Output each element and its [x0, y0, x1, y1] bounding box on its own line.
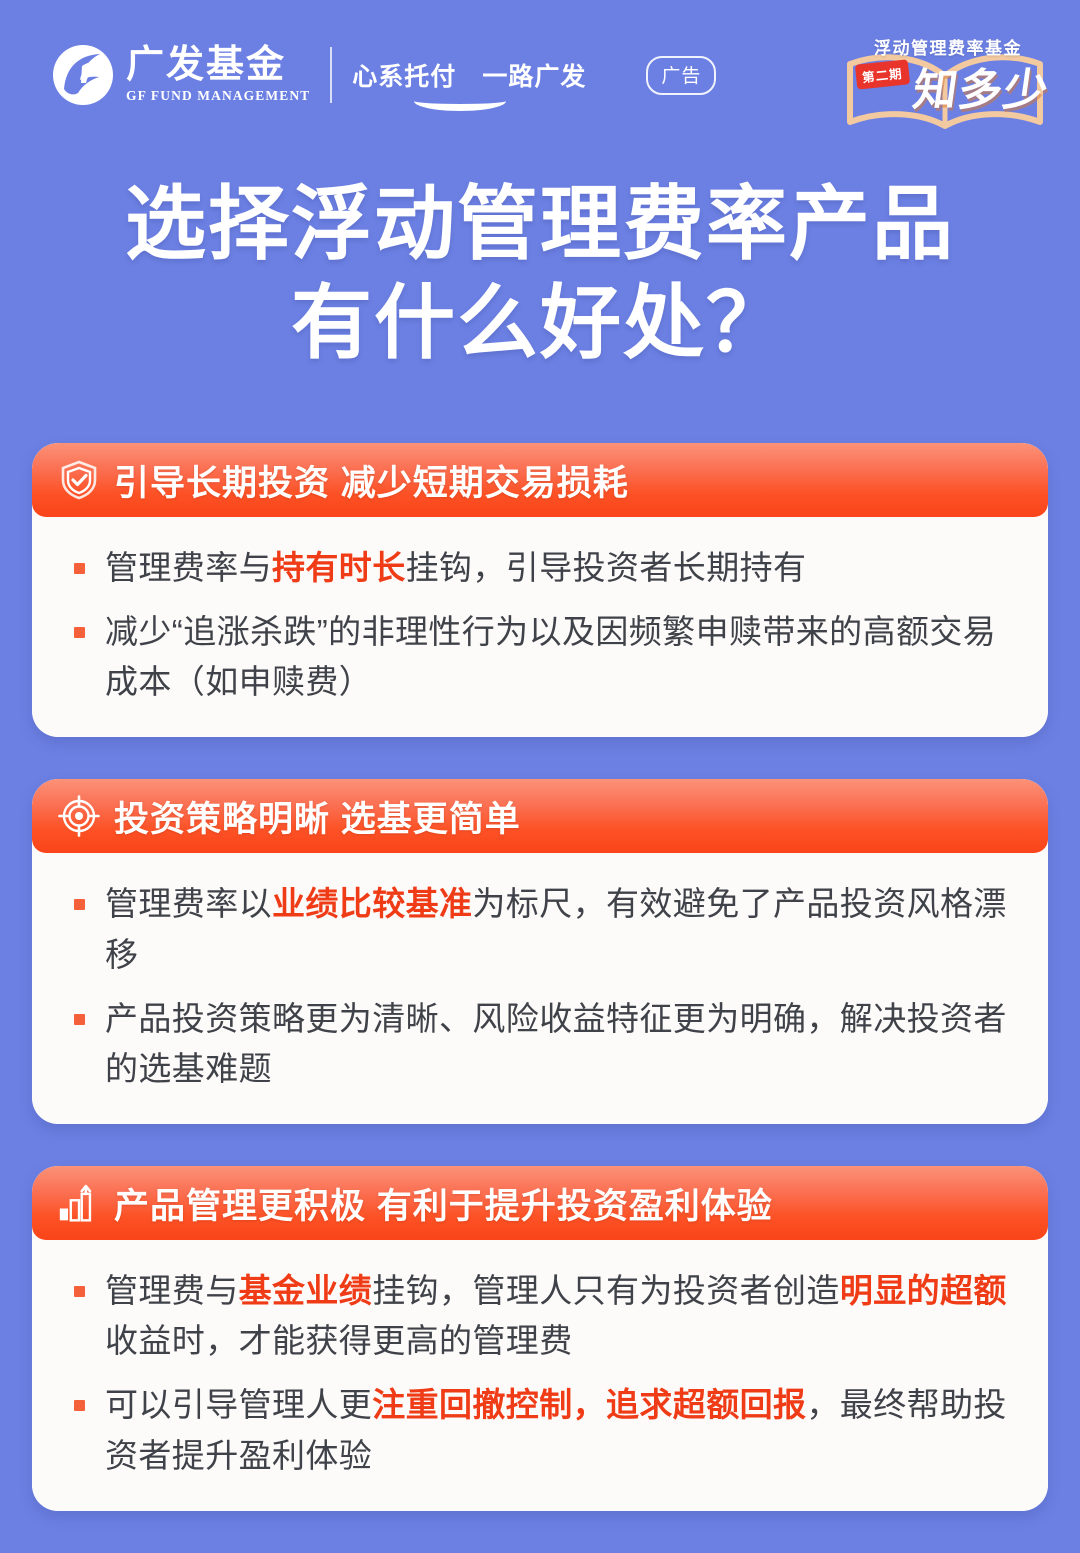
brand-name-en: GF FUND MANAGEMENT	[126, 88, 310, 104]
bullet-text-plain: 收益时，才能获得更高的管理费	[105, 1322, 573, 1359]
benefit-card-list: 引导长期投资 减少短期交易损耗管理费率与持有时长挂钩，引导投资者长期持有减少“追…	[32, 443, 1048, 1553]
bullet-text-highlight: 注重回撤控制，追求超额回报	[372, 1386, 806, 1423]
header-divider	[330, 47, 332, 103]
bullet-text-plain: 减少“追涨杀跌”的非理性行为以及因频繁申赎带来的高额交易成本（如申赎费）	[105, 613, 996, 700]
benefit-card-title: 引导长期投资 减少短期交易损耗	[114, 455, 629, 506]
bullet-text-plain: 管理费与	[105, 1272, 239, 1309]
bullet-text: 管理费与基金业绩挂钩，管理人只有为投资者创造明显的超额收益时，才能获得更高的管理…	[105, 1266, 1012, 1366]
benefit-card: 产品管理更积极 有利于提升投资盈利体验管理费与基金业绩挂钩，管理人只有为投资者创…	[32, 1166, 1048, 1511]
benefit-card-header: 引导长期投资 减少短期交易损耗	[32, 443, 1048, 517]
benefit-card-body: 管理费率与持有时长挂钩，引导投资者长期持有减少“追涨杀跌”的非理性行为以及因频繁…	[32, 517, 1048, 737]
page-title-line-2: 有什么好处？	[0, 275, 1080, 374]
slogan-part-2: 一路广发	[482, 57, 586, 93]
bullet-text-plain: 挂钩，管理人只有为投资者创造	[372, 1272, 840, 1309]
bullet-item: 可以引导管理人更注重回撤控制，追求超额回报，最终帮助投资者提升盈利体验	[62, 1380, 1012, 1480]
brand-slogan: 心系托付 一路广发	[352, 57, 586, 93]
bullet-square-icon	[74, 899, 85, 910]
benefit-card-title: 产品管理更积极 有利于提升投资盈利体验	[114, 1178, 773, 1229]
brand-names: 广发基金 GF FUND MANAGEMENT	[126, 46, 310, 104]
bullet-text-highlight: 明显的超额	[840, 1272, 1007, 1309]
bullet-item: 产品投资策略更为清晰、风险收益特征更为明确，解决投资者的选基难题	[62, 994, 1012, 1094]
target-crosshair-icon	[58, 795, 100, 837]
benefit-card-title: 投资策略明晰 选基更简单	[114, 791, 521, 842]
page-title-line-1: 选择浮动管理费率产品	[0, 176, 1080, 275]
badge-main-text: 知多少	[910, 54, 1054, 118]
bullet-text: 减少“追涨杀跌”的非理性行为以及因频繁申赎带来的高额交易成本（如申赎费）	[105, 607, 1012, 707]
brand-name-cn: 广发基金	[126, 46, 310, 85]
benefit-card-body: 管理费与基金业绩挂钩，管理人只有为投资者创造明显的超额收益时，才能获得更高的管理…	[32, 1240, 1048, 1511]
bullet-text-plain: 管理费率与	[105, 549, 272, 586]
bullet-text: 可以引导管理人更注重回撤控制，追求超额回报，最终帮助投资者提升盈利体验	[105, 1380, 1012, 1480]
bullet-text-plain: 可以引导管理人更	[105, 1386, 372, 1423]
bar-chart-growth-icon	[58, 1182, 100, 1224]
bullet-text: 管理费率以业绩比较基准为标尺，有效避免了产品投资风格漂移	[105, 879, 1012, 979]
brand-logo: 广发基金 GF FUND MANAGEMENT	[52, 44, 310, 106]
bullet-text-highlight: 基金业绩	[239, 1272, 373, 1309]
benefit-card-header: 产品管理更积极 有利于提升投资盈利体验	[32, 1166, 1048, 1240]
slogan-part-1: 心系托付	[352, 57, 456, 93]
page-title: 选择浮动管理费率产品 有什么好处？	[0, 176, 1080, 374]
bullet-text-highlight: 业绩比较基准	[272, 885, 472, 922]
bullet-text-plain: 产品投资策略更为清晰、风险收益特征更为明确，解决投资者的选基难题	[105, 1000, 1007, 1087]
shield-check-icon	[58, 459, 100, 501]
bullet-square-icon	[74, 563, 85, 574]
benefit-card-body: 管理费率以业绩比较基准为标尺，有效避免了产品投资风格漂移产品投资策略更为清晰、风…	[32, 853, 1048, 1124]
bullet-text-plain: 挂钩，引导投资者长期持有	[406, 549, 807, 586]
bullet-square-icon	[74, 627, 85, 638]
bullet-square-icon	[74, 1014, 85, 1025]
bullet-item: 管理费率以业绩比较基准为标尺，有效避免了产品投资风格漂移	[62, 879, 1012, 979]
smile-arc-icon	[414, 91, 506, 111]
bullet-text: 产品投资策略更为清晰、风险收益特征更为明确，解决投资者的选基难题	[105, 994, 1012, 1094]
bullet-square-icon	[74, 1286, 85, 1297]
benefit-card: 投资策略明晰 选基更简单管理费率以业绩比较基准为标尺，有效避免了产品投资风格漂移…	[32, 779, 1048, 1124]
series-badge: 浮动管理费率基金 第二期 知多少	[842, 26, 1052, 130]
benefit-card-header: 投资策略明晰 选基更简单	[32, 779, 1048, 853]
bullet-item: 管理费率与持有时长挂钩，引导投资者长期持有	[62, 543, 1012, 593]
bullet-text: 管理费率与持有时长挂钩，引导投资者长期持有	[105, 543, 806, 593]
bullet-item: 管理费与基金业绩挂钩，管理人只有为投资者创造明显的超额收益时，才能获得更高的管理…	[62, 1266, 1012, 1366]
bullet-text-plain: 管理费率以	[105, 885, 272, 922]
bullet-square-icon	[74, 1400, 85, 1411]
benefit-card: 引导长期投资 减少短期交易损耗管理费率与持有时长挂钩，引导投资者长期持有减少“追…	[32, 443, 1048, 737]
ad-tag: 广告	[646, 56, 716, 95]
bullet-item: 减少“追涨杀跌”的非理性行为以及因频繁申赎带来的高额交易成本（如申赎费）	[62, 607, 1012, 707]
bullet-text-highlight: 持有时长	[272, 549, 406, 586]
gf-leaf-logo-icon	[52, 44, 114, 106]
